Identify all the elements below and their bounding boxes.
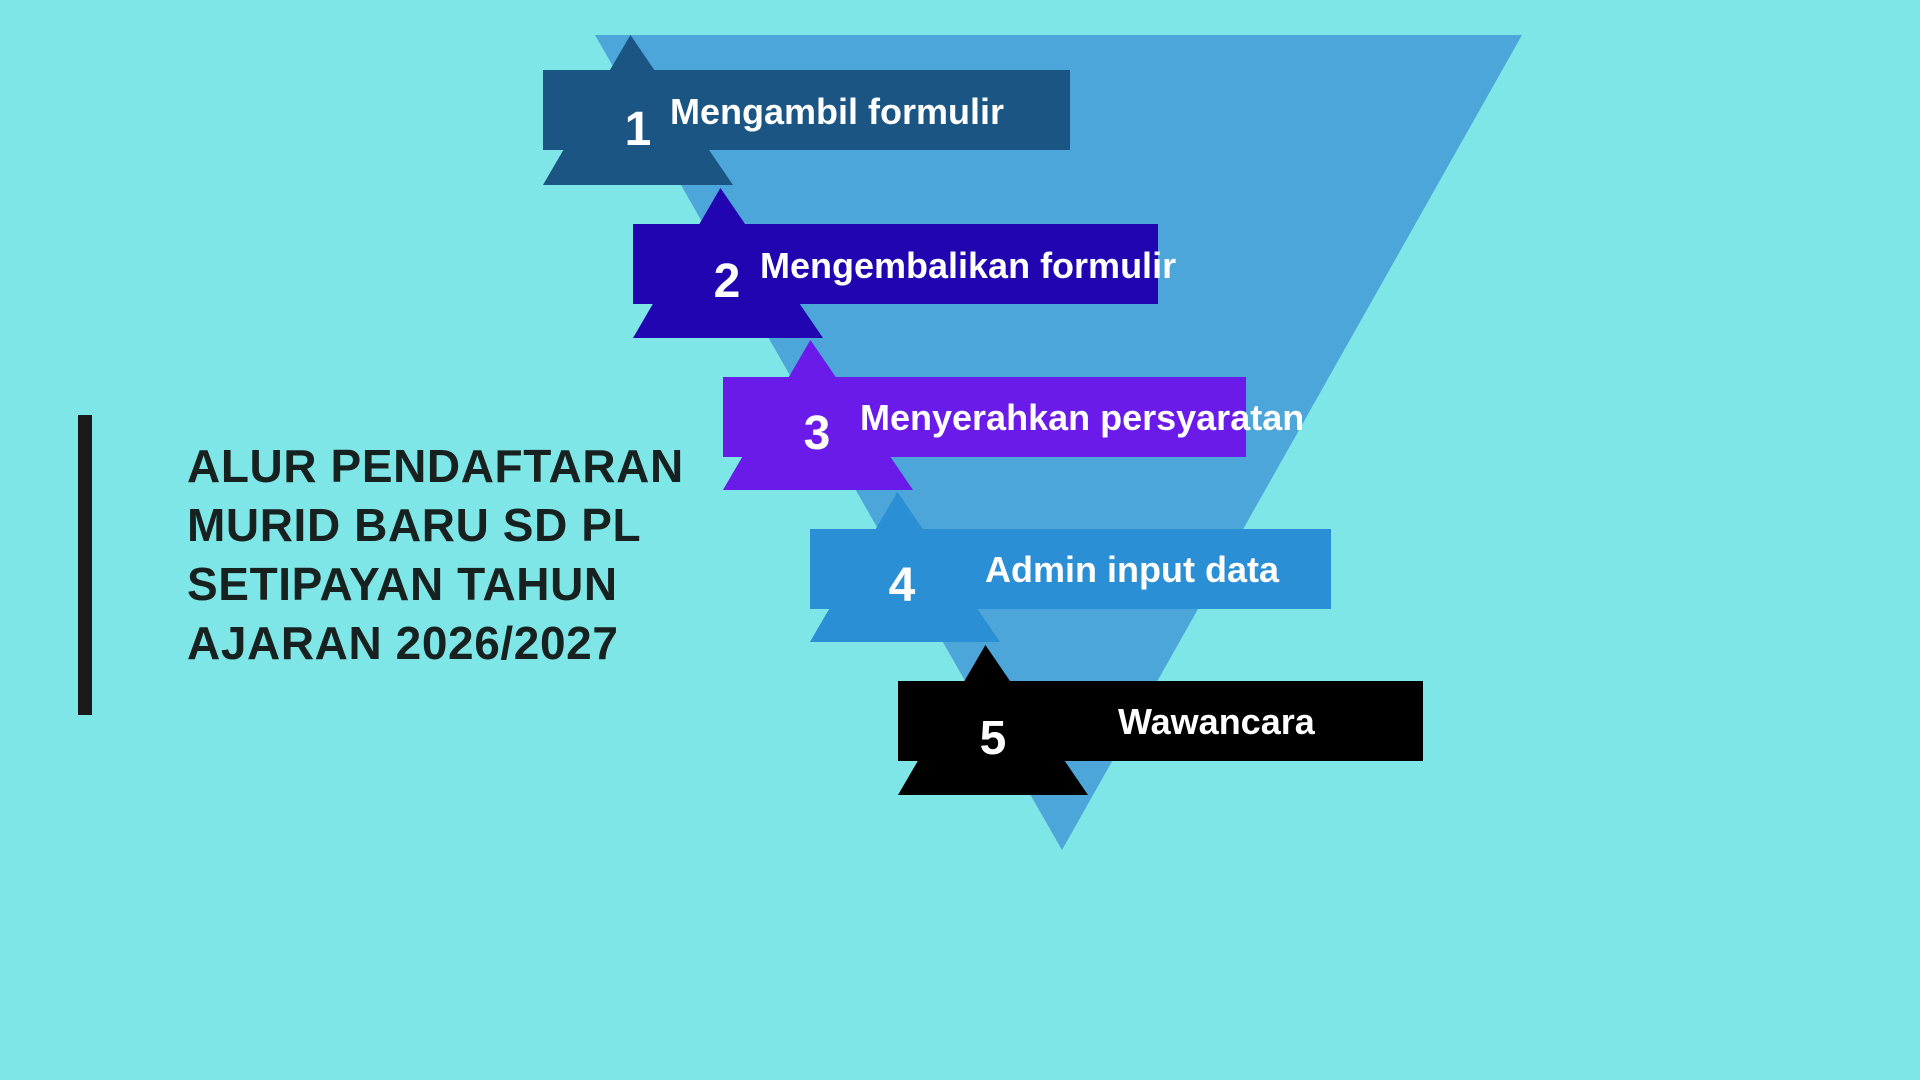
step-label-2: Mengembalikan formulir [760, 248, 1176, 284]
step-label-5: Wawancara [1118, 704, 1315, 740]
step-number-4: 4 [872, 562, 932, 610]
step-number-2: 2 [697, 258, 757, 306]
page-title: ALUR PENDAFTARAN MURID BARU SD PL SETIPA… [187, 437, 684, 673]
infographic-canvas: ALUR PENDAFTARAN MURID BARU SD PL SETIPA… [0, 0, 1920, 1080]
title-block: ALUR PENDAFTARAN MURID BARU SD PL SETIPA… [78, 415, 684, 715]
step-label-1: Mengambil formulir [670, 94, 1004, 130]
title-accent-bar [78, 415, 92, 715]
step-number-3: 3 [787, 410, 847, 458]
step-number-5: 5 [963, 715, 1023, 763]
step-label-3: Menyerahkan persyaratan [860, 400, 1304, 436]
step-number-1: 1 [608, 106, 668, 154]
step-label-4: Admin input data [985, 552, 1279, 588]
